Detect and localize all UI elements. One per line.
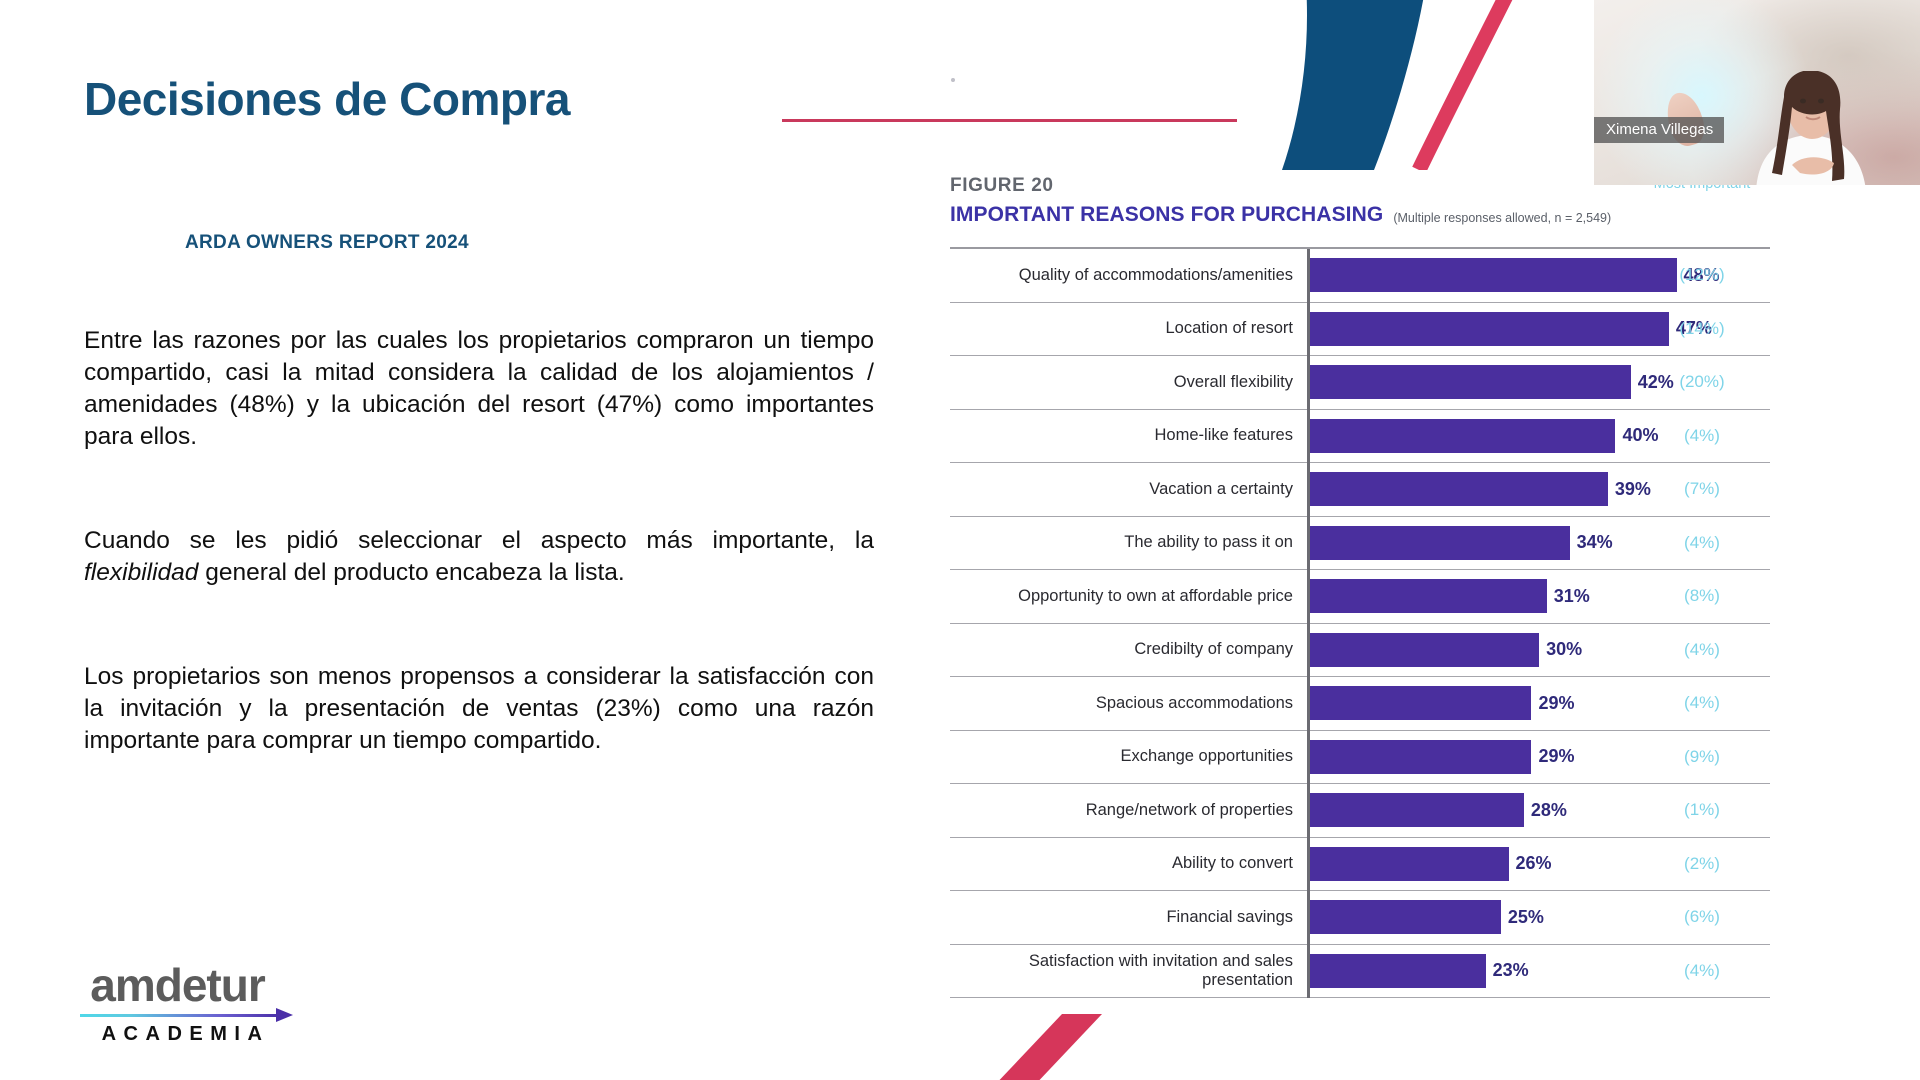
chart-bar-value: 31% <box>1554 586 1590 607</box>
chart-bar-value: 23% <box>1493 960 1529 981</box>
chart-row: Vacation a certainty39%(7%) <box>950 463 1770 517</box>
most-important-value: (8%) <box>1642 586 1762 606</box>
webcam-presenter-figure <box>1746 71 1876 185</box>
paragraph-2-part-b: general del producto encabeza la lista. <box>198 559 624 586</box>
most-important-value: (6%) <box>1642 907 1762 927</box>
horizontal-bar-chart: Quality of accommodations/amenities48%(1… <box>950 247 1770 998</box>
chart-bar <box>1310 258 1677 292</box>
chart-row-label: Spacious accommodations <box>950 677 1307 730</box>
chart-row: Overall flexibility42%(20%) <box>950 356 1770 410</box>
chart-row-label: Range/network of properties <box>950 784 1307 837</box>
chart-row-plot: 48%(12%) <box>1307 249 1770 302</box>
navy-wedge-decoration <box>1276 0 1456 170</box>
chart-row: Quality of accommodations/amenities48%(1… <box>950 249 1770 303</box>
most-important-value: (4%) <box>1642 533 1762 553</box>
chart-bar <box>1310 954 1486 988</box>
chart-bar-value: 26% <box>1516 853 1552 874</box>
chart-bar <box>1310 365 1631 399</box>
webcam-video-overlay[interactable]: Ximena Villegas <box>1594 0 1920 185</box>
chart-row-plot: 42%(20%) <box>1307 356 1770 409</box>
chart-bar <box>1310 526 1570 560</box>
chart-row-label: Ability to convert <box>950 838 1307 891</box>
chart-row-plot: 23%(4%) <box>1307 945 1770 998</box>
most-important-value: (12%) <box>1642 265 1762 285</box>
most-important-value: (4%) <box>1642 961 1762 981</box>
chart-row-label: The ability to pass it on <box>950 517 1307 570</box>
chart-row-plot: 26%(2%) <box>1307 838 1770 891</box>
chart-row-plot: 30%(4%) <box>1307 624 1770 677</box>
chart-row: Credibilty of company30%(4%) <box>950 624 1770 678</box>
chart-bar <box>1310 793 1524 827</box>
chart-row-label: Satisfaction with invitation and sales p… <box>950 945 1307 998</box>
chart-row: The ability to pass it on34%(4%) <box>950 517 1770 571</box>
chart-row-plot: 29%(9%) <box>1307 731 1770 784</box>
logo-subword: ACADEMIA <box>80 1023 285 1045</box>
chart-bar-value: 29% <box>1538 746 1574 767</box>
chart-row-label: Quality of accommodations/amenities <box>950 249 1307 302</box>
chart-row-label: Home-like features <box>950 410 1307 463</box>
chart-row-label: Credibilty of company <box>950 624 1307 677</box>
chart-row: Opportunity to own at affordable price31… <box>950 570 1770 624</box>
chart-row-plot: 47%(14%) <box>1307 303 1770 356</box>
most-important-value: (9%) <box>1642 747 1762 767</box>
chart-row: Financial savings25%(6%) <box>950 891 1770 945</box>
chart-bar <box>1310 472 1608 506</box>
chart-row-plot: 39%(7%) <box>1307 463 1770 516</box>
page-title: Decisiones de Compra <box>84 72 570 126</box>
chart-row-plot: 29%(4%) <box>1307 677 1770 730</box>
paragraph-2: Cuando se les pidió seleccionar el aspec… <box>84 525 874 589</box>
logo-arrow-line <box>80 1014 280 1017</box>
dot-decoration <box>951 78 955 82</box>
chart-bar-value: 25% <box>1508 907 1544 928</box>
logo-arrow-head <box>276 1008 293 1022</box>
chart-row: Home-like features40%(4%) <box>950 410 1770 464</box>
chart-bar-value: 30% <box>1546 639 1582 660</box>
paragraph-3: Los propietarios son menos propensos a c… <box>84 661 874 757</box>
chart-row: Exchange opportunities29%(9%) <box>950 731 1770 785</box>
chart-row: Satisfaction with invitation and sales p… <box>950 945 1770 999</box>
chart-bar <box>1310 633 1539 667</box>
source-eyebrow-label: ARDA OWNERS REPORT 2024 <box>185 232 469 254</box>
chart-bar <box>1310 740 1531 774</box>
most-important-value: (14%) <box>1642 319 1762 339</box>
crimson-slash-decoration <box>990 1008 1140 1080</box>
most-important-value: (2%) <box>1642 854 1762 874</box>
most-important-value: (7%) <box>1642 479 1762 499</box>
paragraph-2-part-a: Cuando se les pidió seleccionar el aspec… <box>84 527 874 554</box>
chart-bar <box>1310 419 1615 453</box>
chart-bar <box>1310 579 1547 613</box>
chart-row-label: Exchange opportunities <box>950 731 1307 784</box>
chart-bar-value: 29% <box>1538 693 1574 714</box>
logo-wordmark: amdetur <box>80 962 275 1008</box>
chart-bar-value: 34% <box>1577 532 1613 553</box>
chart-row-plot: 31%(8%) <box>1307 570 1770 623</box>
most-important-value: (4%) <box>1642 640 1762 660</box>
slide-text-column: Decisiones de Compra ARDA OWNERS REPORT … <box>0 0 900 1080</box>
most-important-value: (4%) <box>1642 693 1762 713</box>
figure-title: IMPORTANT REASONS FOR PURCHASING <box>950 203 1383 227</box>
most-important-value: (1%) <box>1642 800 1762 820</box>
chart-row-plot: 25%(6%) <box>1307 891 1770 944</box>
chart-row: Location of resort47%(14%) <box>950 303 1770 357</box>
chart-bar <box>1310 686 1531 720</box>
chart-row-plot: 40%(4%) <box>1307 410 1770 463</box>
amdetur-academia-logo: amdetur ACADEMIA <box>80 962 295 1040</box>
chart-row-label: Opportunity to own at affordable price <box>950 570 1307 623</box>
chart-bar <box>1310 900 1501 934</box>
figure-panel: FIGURE 20 IMPORTANT REASONS FOR PURCHASI… <box>950 175 1770 998</box>
paragraph-2-emphasis: flexibilidad <box>84 559 198 586</box>
figure-sample-note: (Multiple responses allowed, n = 2,549) <box>1393 211 1611 227</box>
body-copy: Entre las razones por las cuales los pro… <box>84 325 874 757</box>
chart-bar-value: 28% <box>1531 800 1567 821</box>
chart-row-label: Vacation a certainty <box>950 463 1307 516</box>
chart-row: Spacious accommodations29%(4%) <box>950 677 1770 731</box>
crimson-curve-decoration <box>1395 0 1565 170</box>
chart-bar <box>1310 312 1669 346</box>
chart-row: Range/network of properties28%(1%) <box>950 784 1770 838</box>
most-important-value: (4%) <box>1642 426 1762 446</box>
chart-row: Ability to convert26%(2%) <box>950 838 1770 892</box>
webcam-participant-name: Ximena Villegas <box>1594 117 1724 143</box>
figure-header-row: IMPORTANT REASONS FOR PURCHASING (Multip… <box>950 203 1770 227</box>
paragraph-1: Entre las razones por las cuales los pro… <box>84 325 874 453</box>
chart-bar <box>1310 847 1509 881</box>
most-important-value: (20%) <box>1642 372 1762 392</box>
chart-row-label: Location of resort <box>950 303 1307 356</box>
chart-row-plot: 28%(1%) <box>1307 784 1770 837</box>
presentation-slide: Decisiones de Compra ARDA OWNERS REPORT … <box>0 0 1920 1080</box>
logo-arrow-icon <box>80 1009 295 1021</box>
chart-row-label: Overall flexibility <box>950 356 1307 409</box>
chart-row-label: Financial savings <box>950 891 1307 944</box>
chart-row-plot: 34%(4%) <box>1307 517 1770 570</box>
